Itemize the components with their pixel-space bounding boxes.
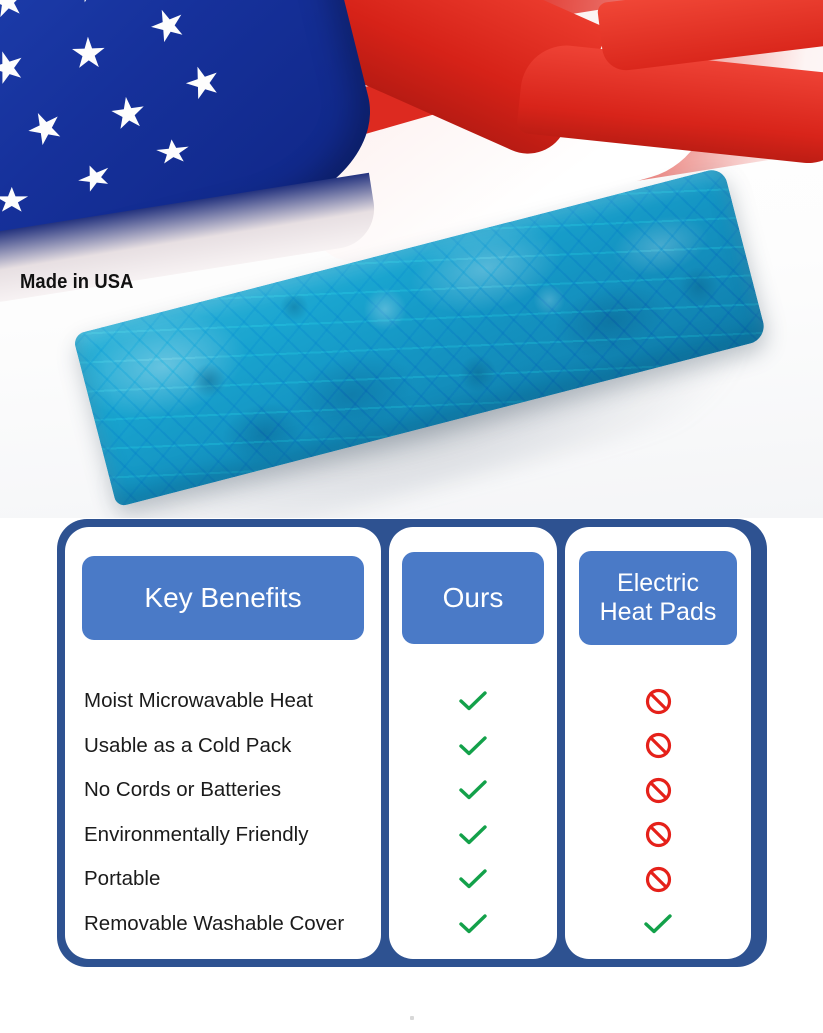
table-row: Moist Microwavable Heat bbox=[65, 679, 381, 724]
electric-mark-list bbox=[565, 679, 751, 946]
table-row bbox=[565, 857, 751, 902]
check-icon bbox=[389, 867, 557, 891]
check-icon bbox=[389, 689, 557, 713]
prohibition-icon bbox=[565, 777, 751, 804]
column-key-benefits: Key Benefits Moist Microwavable Heat Usa… bbox=[65, 527, 381, 959]
product-infographic-page: Made in USA Key Benefits Moist Microwava… bbox=[0, 0, 823, 1033]
comparison-table: Key Benefits Moist Microwavable Heat Usa… bbox=[57, 519, 767, 967]
check-icon bbox=[389, 778, 557, 802]
table-row bbox=[565, 679, 751, 724]
benefit-label: Portable bbox=[65, 867, 160, 891]
benefit-label: Usable as a Cold Pack bbox=[65, 734, 291, 758]
prohibition-icon bbox=[565, 688, 751, 715]
prohibition-icon bbox=[565, 821, 751, 848]
table-row bbox=[389, 679, 557, 724]
table-row: Usable as a Cold Pack bbox=[65, 724, 381, 769]
column-header-line-2: Heat Pads bbox=[600, 598, 717, 626]
benefit-label: No Cords or Batteries bbox=[65, 778, 281, 802]
column-ours: Ours bbox=[389, 527, 557, 959]
column-header-line-1: Electric bbox=[617, 569, 699, 597]
check-icon bbox=[389, 823, 557, 847]
hero-photo: Made in USA bbox=[0, 0, 823, 518]
table-row bbox=[565, 813, 751, 858]
table-row bbox=[389, 857, 557, 902]
check-icon bbox=[389, 734, 557, 758]
page-artifact-mark bbox=[410, 1016, 414, 1020]
table-row: Removable Washable Cover bbox=[65, 902, 381, 947]
made-in-usa-label: Made in USA bbox=[20, 271, 133, 294]
table-row: Portable bbox=[65, 857, 381, 902]
table-row bbox=[389, 902, 557, 947]
check-icon bbox=[389, 912, 557, 936]
benefit-label: Removable Washable Cover bbox=[65, 912, 344, 936]
table-row bbox=[565, 724, 751, 769]
table-row: Environmentally Friendly bbox=[65, 813, 381, 858]
column-header-key-benefits: Key Benefits bbox=[82, 556, 364, 640]
column-header-ours: Ours bbox=[402, 552, 544, 644]
table-row bbox=[565, 902, 751, 947]
prohibition-icon bbox=[565, 866, 751, 893]
prohibition-icon bbox=[565, 732, 751, 759]
usa-flag-star-field bbox=[0, 0, 390, 288]
table-row: No Cords or Batteries bbox=[65, 768, 381, 813]
check-icon bbox=[565, 912, 751, 936]
table-row bbox=[389, 768, 557, 813]
benefit-label: Moist Microwavable Heat bbox=[65, 689, 313, 713]
table-row bbox=[389, 813, 557, 858]
benefit-label-list: Moist Microwavable Heat Usable as a Cold… bbox=[65, 679, 381, 946]
column-header-electric-heat-pads: Electric Heat Pads bbox=[579, 551, 737, 645]
table-row bbox=[565, 768, 751, 813]
column-electric-heat-pads: Electric Heat Pads bbox=[565, 527, 751, 959]
table-row bbox=[389, 724, 557, 769]
ours-mark-list bbox=[389, 679, 557, 946]
benefit-label: Environmentally Friendly bbox=[65, 823, 308, 847]
